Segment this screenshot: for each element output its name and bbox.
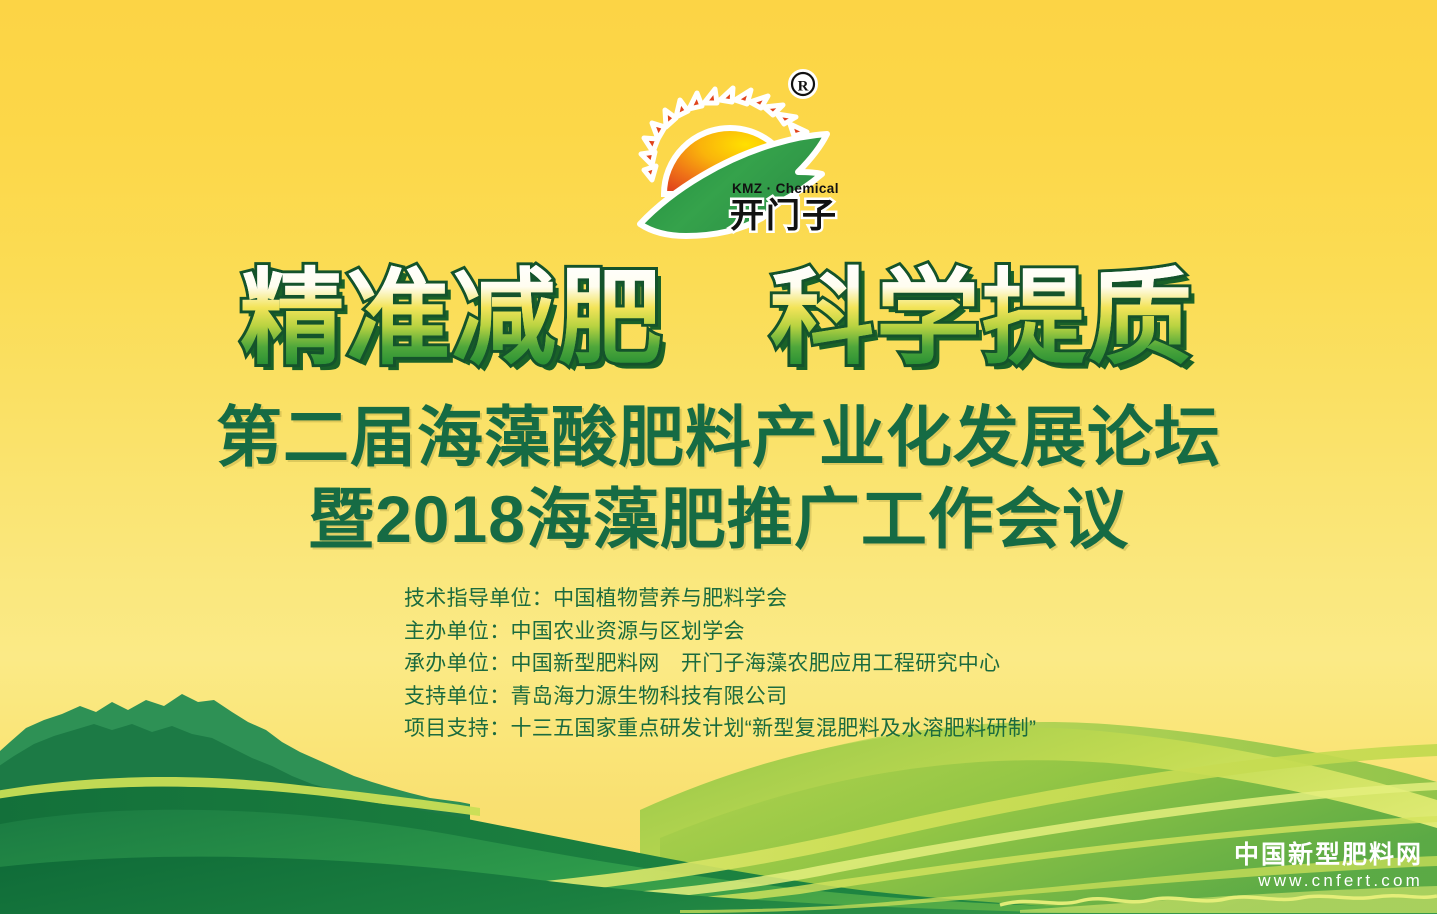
credit-line-host: 主办单位：中国农业资源与区划学会 bbox=[404, 616, 1104, 649]
svg-text:精准减肥 科学提质: 精准减肥 科学提质 bbox=[239, 261, 1193, 377]
svg-text:R: R bbox=[798, 79, 809, 95]
watermark-site-url: www.cnfert.com bbox=[1234, 870, 1423, 892]
mountain-ridge-back bbox=[0, 694, 470, 830]
mountain-highlight bbox=[0, 777, 480, 816]
credit-line-supporter: 支持单位：青岛海力源生物科技有限公司 bbox=[404, 681, 1104, 714]
headline: 精准减肥 科学提质 精准减肥 科学提质 精准减肥 科学提质 bbox=[0, 268, 1437, 388]
credits-block: 技术指导单位：中国植物营养与肥料学会 主办单位：中国农业资源与区划学会 承办单位… bbox=[404, 583, 1104, 746]
hill-foreground-deep bbox=[0, 857, 1437, 914]
svg-text:开门子: 开门子 bbox=[730, 197, 838, 235]
logo-container: R KMZ · Chemical 开门子 开门子 bbox=[622, 62, 842, 247]
subtitle-line-1: 第二届海藻酸肥料产业化发展论坛 bbox=[0, 398, 1437, 476]
watermark: 中国新型肥料网 www.cnfert.com bbox=[1234, 840, 1423, 892]
credit-line-organizer: 承办单位：中国新型肥料网 开门子海藻农肥应用工程研究中心 bbox=[404, 648, 1104, 681]
mountain-ridge-front bbox=[0, 724, 470, 840]
vine-squiggle bbox=[1000, 896, 1437, 905]
hill-left-dark bbox=[0, 787, 1437, 914]
credit-line-technical-guidance: 技术指导单位：中国植物营养与肥料学会 bbox=[404, 583, 1104, 616]
kmz-chemical-logo: R KMZ · Chemical 开门子 开门子 bbox=[622, 62, 842, 247]
credit-line-project-support: 项目支持：十三五国家重点研发计划“新型复混肥料及水溶肥料研制” bbox=[404, 713, 1104, 746]
subtitle-line-2: 暨2018海藻肥推广工作会议 bbox=[0, 480, 1437, 558]
subtitle-block: 第二届海藻酸肥料产业化发展论坛 暨2018海藻肥推广工作会议 bbox=[0, 398, 1437, 558]
registered-trademark-icon: R bbox=[788, 69, 818, 99]
watermark-site-name: 中国新型肥料网 bbox=[1234, 840, 1423, 870]
logo-brand-latin: KMZ · Chemical bbox=[732, 181, 839, 196]
conference-poster: R KMZ · Chemical 开门子 开门子 精准减肥 科学提质 bbox=[0, 0, 1437, 914]
hill-center-sweep bbox=[0, 810, 1437, 914]
